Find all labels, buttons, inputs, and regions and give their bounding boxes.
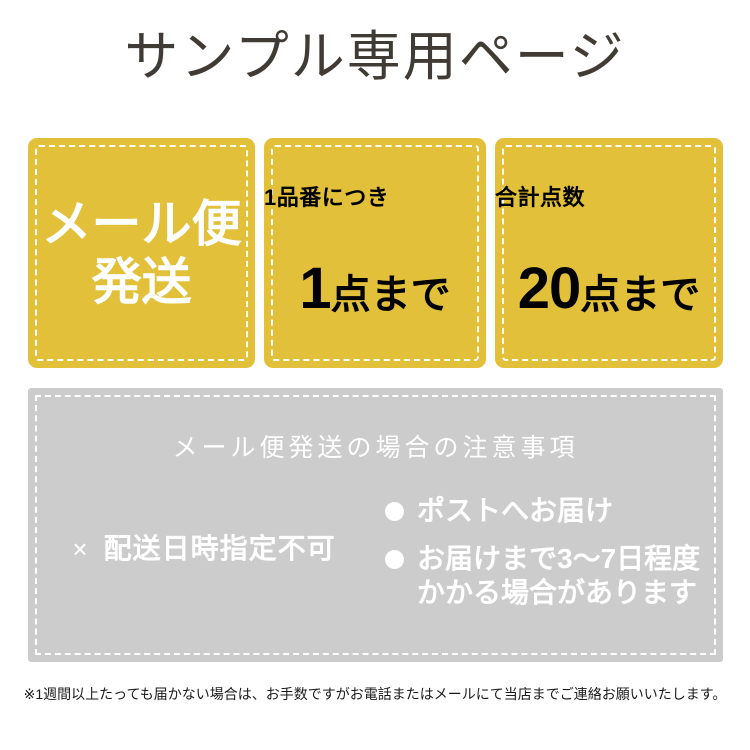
card-per-item-limit-label: 1品番につき — [264, 184, 486, 212]
notice-bullet-text: お届けまで3〜7日程度 かかる場合があります — [417, 542, 700, 610]
card-shipping-method-line1: メール便 — [42, 195, 242, 253]
card-per-item-limit-number: 1 — [299, 260, 330, 318]
cross-icon: × — [72, 534, 87, 564]
notice-no-delivery-time: 配送日時指定不可 — [104, 532, 336, 566]
card-total-limit: 合計点数 20 点まで — [495, 138, 723, 368]
notice-heading: メール便発送の場合の注意事項 — [28, 432, 723, 464]
card-per-item-limit-value: 1 点まで — [264, 260, 486, 324]
bullet-dot-icon — [385, 550, 404, 569]
card-total-limit-value: 20 点まで — [495, 260, 723, 324]
card-total-limit-label: 合計点数 — [495, 184, 723, 212]
notice-bullet-text: ポストへお届け — [417, 494, 613, 528]
card-per-item-limit-unit: 点まで — [331, 266, 451, 324]
bullet-dot-icon — [385, 502, 404, 521]
page-title: サンプル専用ページ — [0, 26, 750, 88]
card-per-item-limit: 1品番につき 1 点まで — [264, 138, 486, 368]
card-shipping-method: メール便 発送 — [28, 138, 255, 368]
dashed-border-decoration — [271, 145, 479, 361]
notice-box: メール便発送の場合の注意事項 × 配送日時指定不可 ポストへお届け お届けまで3… — [28, 388, 723, 662]
footnote: ※1週間以上たっても届かない場合は、お手数ですがお電話またはメールにて当店までご… — [0, 684, 750, 704]
notice-right-column: ポストへお届け お届けまで3〜7日程度 かかる場合があります — [380, 494, 723, 610]
notice-left-column: × 配送日時指定不可 — [28, 494, 380, 566]
feature-cards-row: メール便 発送 1品番につき 1 点まで 合計点数 20 点まで — [28, 138, 723, 368]
card-shipping-method-line2: 発送 — [92, 253, 192, 311]
sample-page: サンプル専用ページ メール便 発送 1品番につき 1 点まで 合計点数 20 点… — [0, 0, 750, 750]
dashed-border-decoration — [502, 145, 716, 361]
card-total-limit-number: 20 — [518, 260, 581, 318]
card-total-limit-unit: 点まで — [580, 266, 700, 324]
notice-columns: × 配送日時指定不可 ポストへお届け お届けまで3〜7日程度 かかる場合がありま… — [28, 494, 723, 610]
list-item: お届けまで3〜7日程度 かかる場合があります — [385, 542, 723, 610]
card-shipping-method-content: メール便 発送 — [28, 138, 255, 368]
list-item: ポストへお届け — [385, 494, 723, 528]
